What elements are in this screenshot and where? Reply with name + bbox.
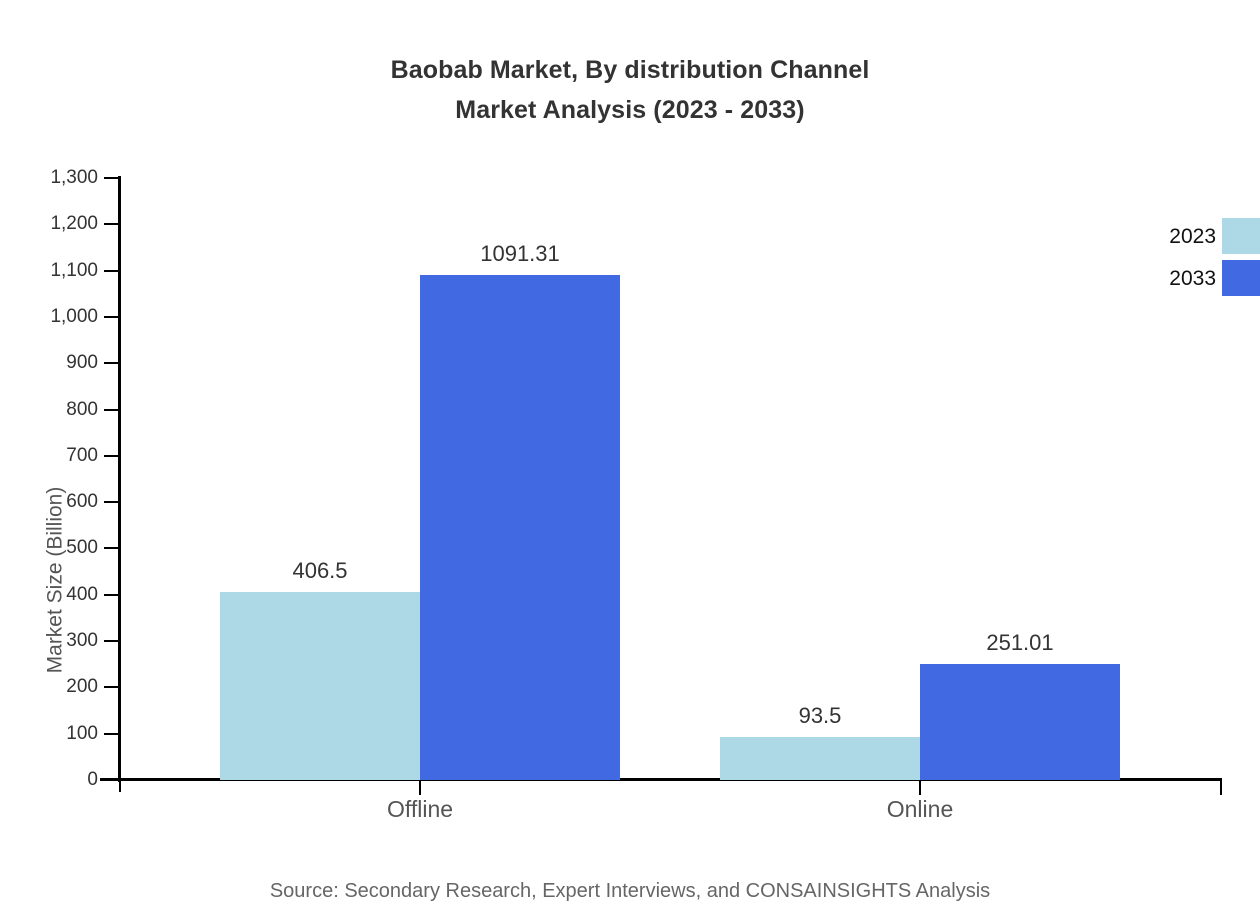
y-axis-tick-label: 1,300 [8,168,98,187]
y-axis-tick-label: 700 [8,446,98,465]
y-axis-tick-label: 900 [8,353,98,372]
legend-item-label: 2023 [1130,226,1216,247]
y-axis-tick [104,640,120,642]
legend-item-2023[interactable]: 2023 [1130,218,1260,254]
chart-source-note: Source: Secondary Research, Expert Inter… [0,878,1260,904]
y-axis-tick [104,455,120,457]
y-axis-tick-label: 100 [8,724,98,743]
y-axis-tick [104,733,120,735]
bar-online-2033[interactable] [920,664,1120,780]
x-axis-tick [919,780,921,795]
y-axis-tick [104,223,120,225]
y-axis-tick [104,270,120,272]
y-axis-tick [104,547,120,549]
y-axis-tick [104,594,120,596]
y-axis-tick-label: 1,200 [8,214,98,233]
x-axis-tick-label: Offline [270,795,570,823]
y-axis-spine [118,176,121,782]
x-axis-tick [419,780,421,795]
chart-title-line-2: Market Analysis (2023 - 2033) [0,90,1260,130]
y-axis-tick-label: 300 [8,631,98,650]
x-axis-end-tick [1220,780,1222,795]
bar-value-label: 93.5 [700,705,940,727]
y-axis-tick-label: 500 [8,538,98,557]
bar-chart: Baobab Market, By distribution Channel M… [0,0,1260,920]
y-axis-tick-label: 1,100 [8,261,98,280]
y-axis-tick [104,779,120,781]
legend-color-swatch [1222,260,1260,296]
y-axis-tick-label: 800 [8,400,98,419]
bar-offline-2033[interactable] [420,275,620,780]
y-axis-tick [104,316,120,318]
y-axis-tick [104,409,120,411]
chart-legend: 20232033 [1130,218,1260,308]
chart-title: Baobab Market, By distribution Channel M… [0,50,1260,130]
legend-item-2033[interactable]: 2033 [1130,260,1260,296]
y-axis-tick-label: 1,000 [8,307,98,326]
y-axis-tick-label: 400 [8,585,98,604]
y-axis-tick [104,686,120,688]
chart-title-line-1: Baobab Market, By distribution Channel [0,50,1260,90]
y-axis-tick [104,177,120,179]
y-axis-tick [104,501,120,503]
y-axis-tick [104,362,120,364]
x-axis-tick-label: Online [770,795,1070,823]
legend-color-swatch [1222,218,1260,254]
bar-online-2023[interactable] [720,737,920,780]
y-axis-tick-label: 200 [8,677,98,696]
bar-value-label: 406.5 [200,560,440,582]
bar-value-label: 251.01 [900,632,1140,654]
bar-offline-2023[interactable] [220,592,420,780]
legend-item-label: 2033 [1130,268,1216,289]
bar-value-label: 1091.31 [400,243,640,265]
y-axis-tick-label: 600 [8,492,98,511]
y-axis-tick-label: 0 [8,770,98,789]
